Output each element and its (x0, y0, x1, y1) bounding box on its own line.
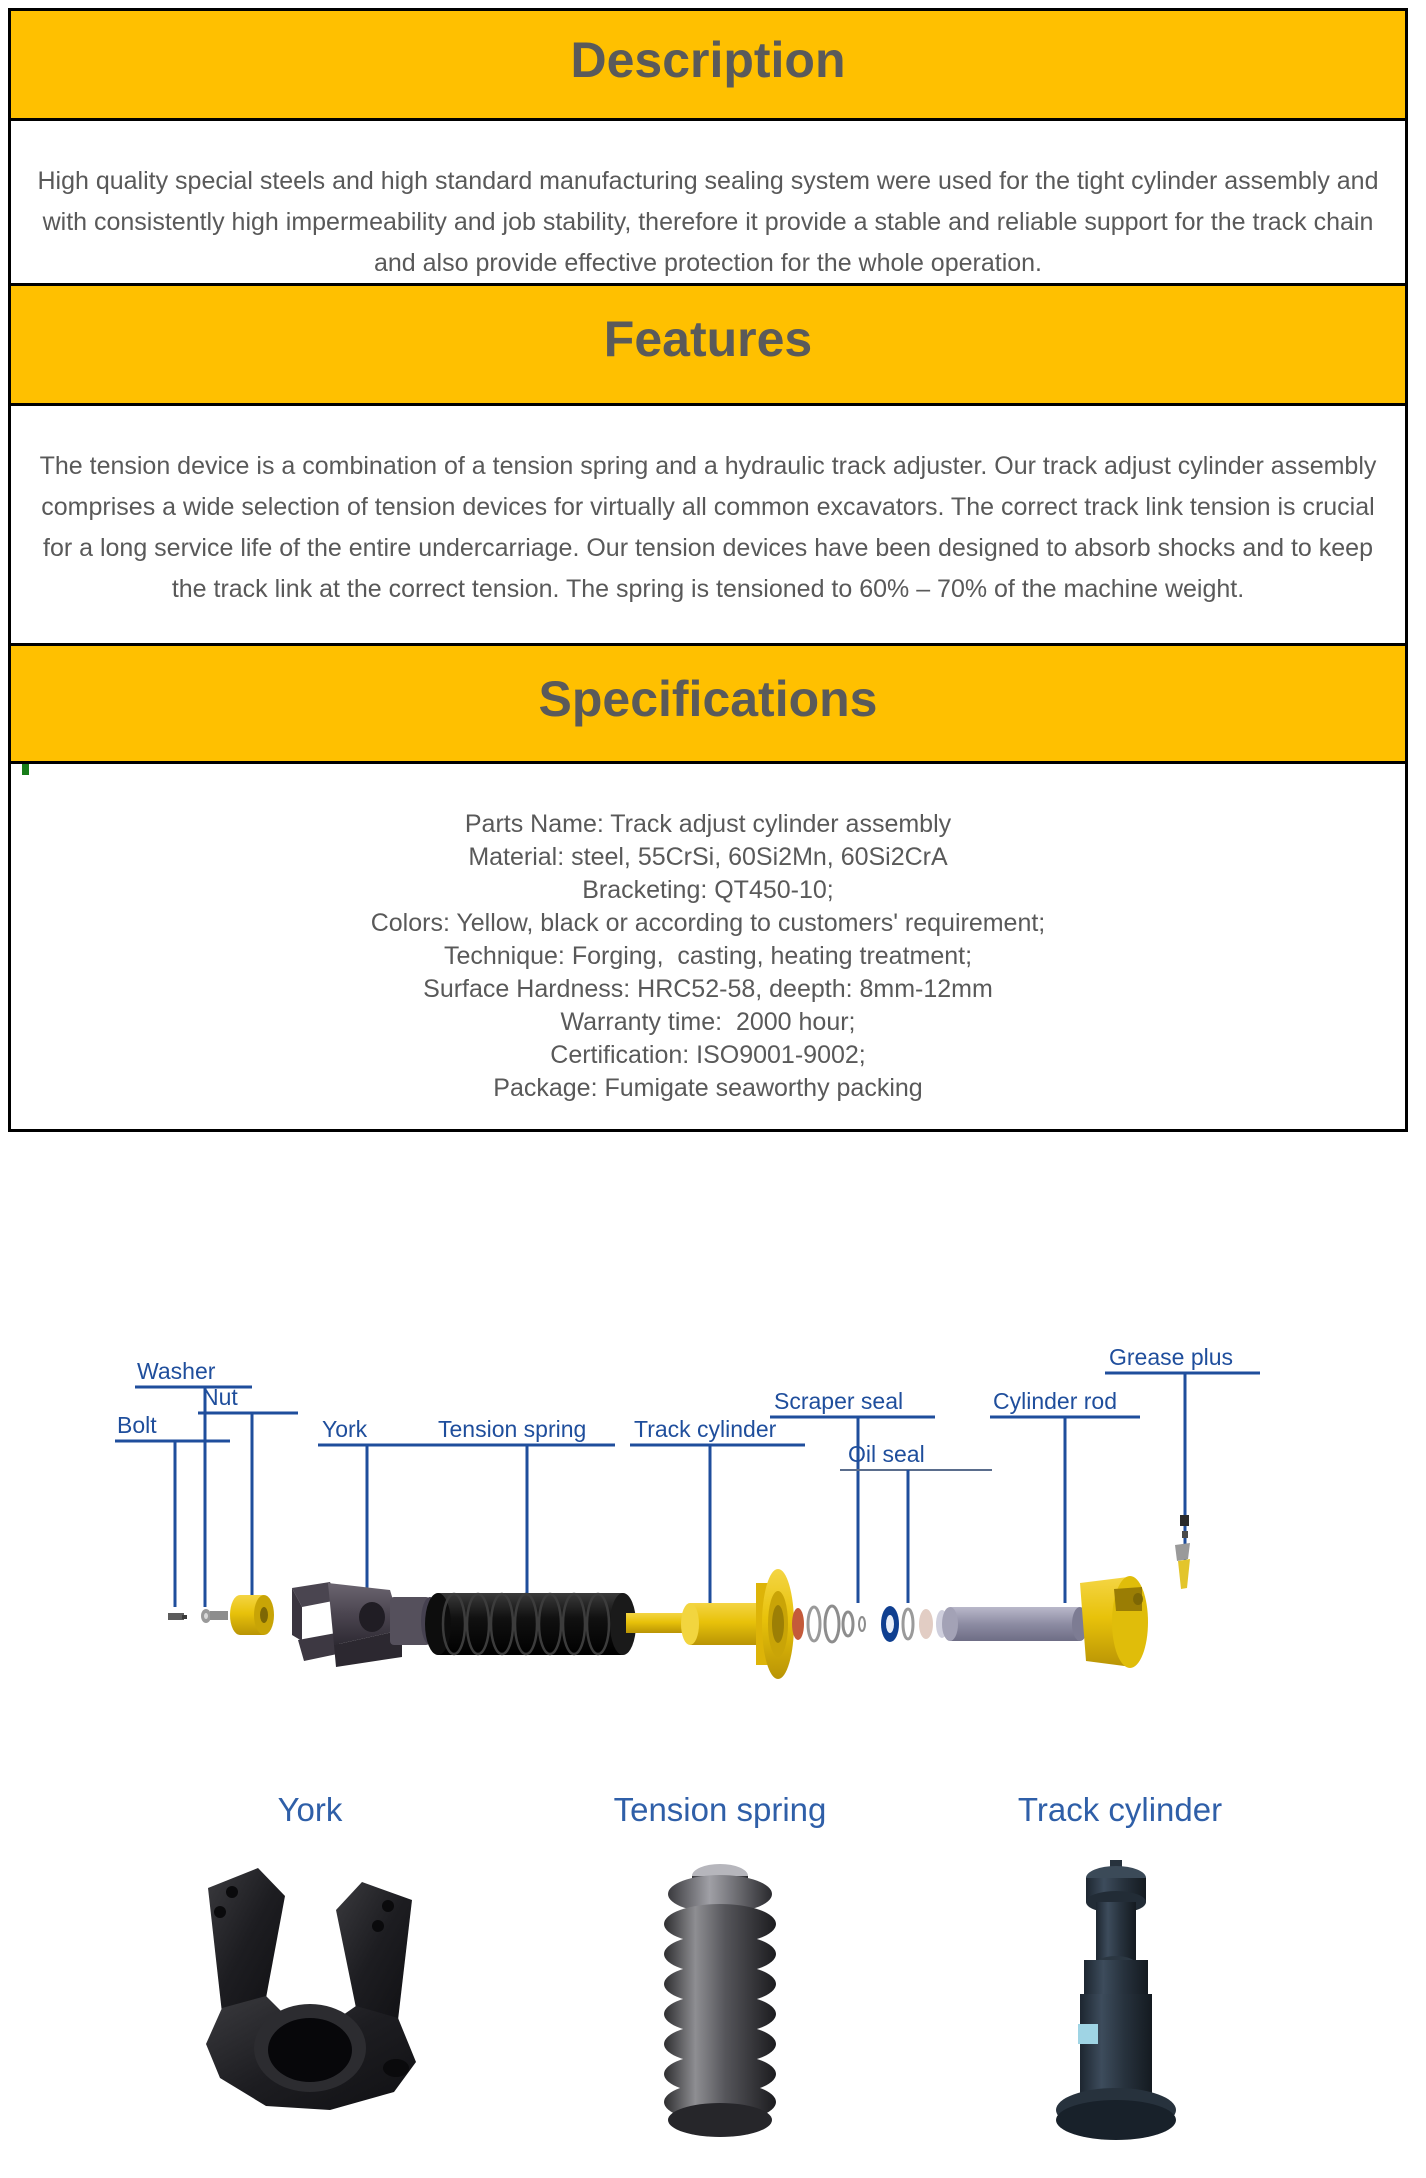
callout-label-cylinder-rod: Cylinder rod (993, 1388, 1117, 1414)
photo-cell-tension-spring: Tension spring (520, 1790, 920, 2148)
photo-label-york: York (110, 1790, 510, 1830)
callout-label-york: York (322, 1416, 368, 1442)
spec-line-colors: Colors: Yellow, black or according to cu… (29, 907, 1387, 940)
specifications-list: Parts Name: Track adjust cylinder assemb… (29, 808, 1387, 1105)
callout-label-tension-spring: Tension spring (438, 1416, 586, 1442)
spec-line-warranty-time: Warranty time: 2000 hour; (29, 1006, 1387, 1039)
part-seal-stack (792, 1606, 948, 1642)
features-paragraph: The tension device is a combination of a… (33, 446, 1383, 610)
features-heading: Features (11, 314, 1405, 364)
part-tension-spring (425, 1593, 636, 1655)
spec-line-parts-name: Parts Name: Track adjust cylinder assemb… (29, 808, 1387, 841)
photo-image-tension-spring (520, 1848, 920, 2148)
callout-label-washer: Washer (137, 1358, 216, 1384)
part-york (292, 1582, 439, 1667)
part-nut (230, 1595, 274, 1635)
part-grease-plug (1175, 1515, 1190, 1589)
spec-line-bracketing: Bracketing: QT450-10; (29, 874, 1387, 907)
spec-line-material: Material: steel, 55CrSi, 60Si2Mn, 60Si2C… (29, 841, 1387, 874)
spec-line-package: Package: Fumigate seaworthy packing (29, 1072, 1387, 1105)
description-paragraph: High quality special steels and high sta… (33, 161, 1383, 284)
spec-line-technique: Technique: Forging, casting, heating tre… (29, 940, 1387, 973)
description-heading: Description (11, 35, 1405, 85)
product-info-table: Description High quality special steels … (8, 8, 1408, 1132)
specifications-body: Parts Name: Track adjust cylinder assemb… (11, 764, 1405, 1132)
photo-cell-york: York (110, 1790, 510, 2148)
photo-label-tension-spring: Tension spring (520, 1790, 920, 1830)
part-bolt (168, 1613, 187, 1620)
callout-label-grease-plus: Grease plus (1109, 1345, 1233, 1370)
callout-label-track-cylinder: Track cylinder (634, 1416, 777, 1442)
part-washer (201, 1609, 228, 1623)
specifications-header: Specifications (11, 646, 1405, 764)
photo-image-track-cylinder (920, 1848, 1320, 2148)
photo-cell-track-cylinder: Track cylinder (920, 1790, 1320, 2148)
part-rod-end-head (1080, 1576, 1148, 1668)
features-header: Features (11, 286, 1405, 406)
green-artifact-mark (22, 764, 29, 775)
spec-line-certification: Certification: ISO9001-9002; (29, 1039, 1387, 1072)
callout-label-nut: Nut (202, 1384, 238, 1410)
description-body: High quality special steels and high sta… (11, 121, 1405, 286)
photo-image-york (110, 1848, 510, 2148)
exploded-assembly-diagram: Bolt Washer Nut York Tension spring Trac… (30, 1345, 1370, 1765)
callout-label-oil-seal: Oil seal (848, 1441, 925, 1467)
callout-label-scraper-seal: Scraper seal (774, 1388, 903, 1414)
description-header: Description (11, 11, 1405, 121)
spec-line-surface-hardness: Surface Hardness: HRC52-58, deepth: 8mm-… (29, 973, 1387, 1006)
specifications-heading: Specifications (11, 674, 1405, 724)
part-cylinder-rod (942, 1607, 1088, 1641)
photo-label-track-cylinder: Track cylinder (920, 1790, 1320, 1830)
callout-label-bolt: Bolt (117, 1412, 157, 1438)
product-photo-strip: York (20, 1790, 1406, 2170)
features-body: The tension device is a combination of a… (11, 406, 1405, 646)
